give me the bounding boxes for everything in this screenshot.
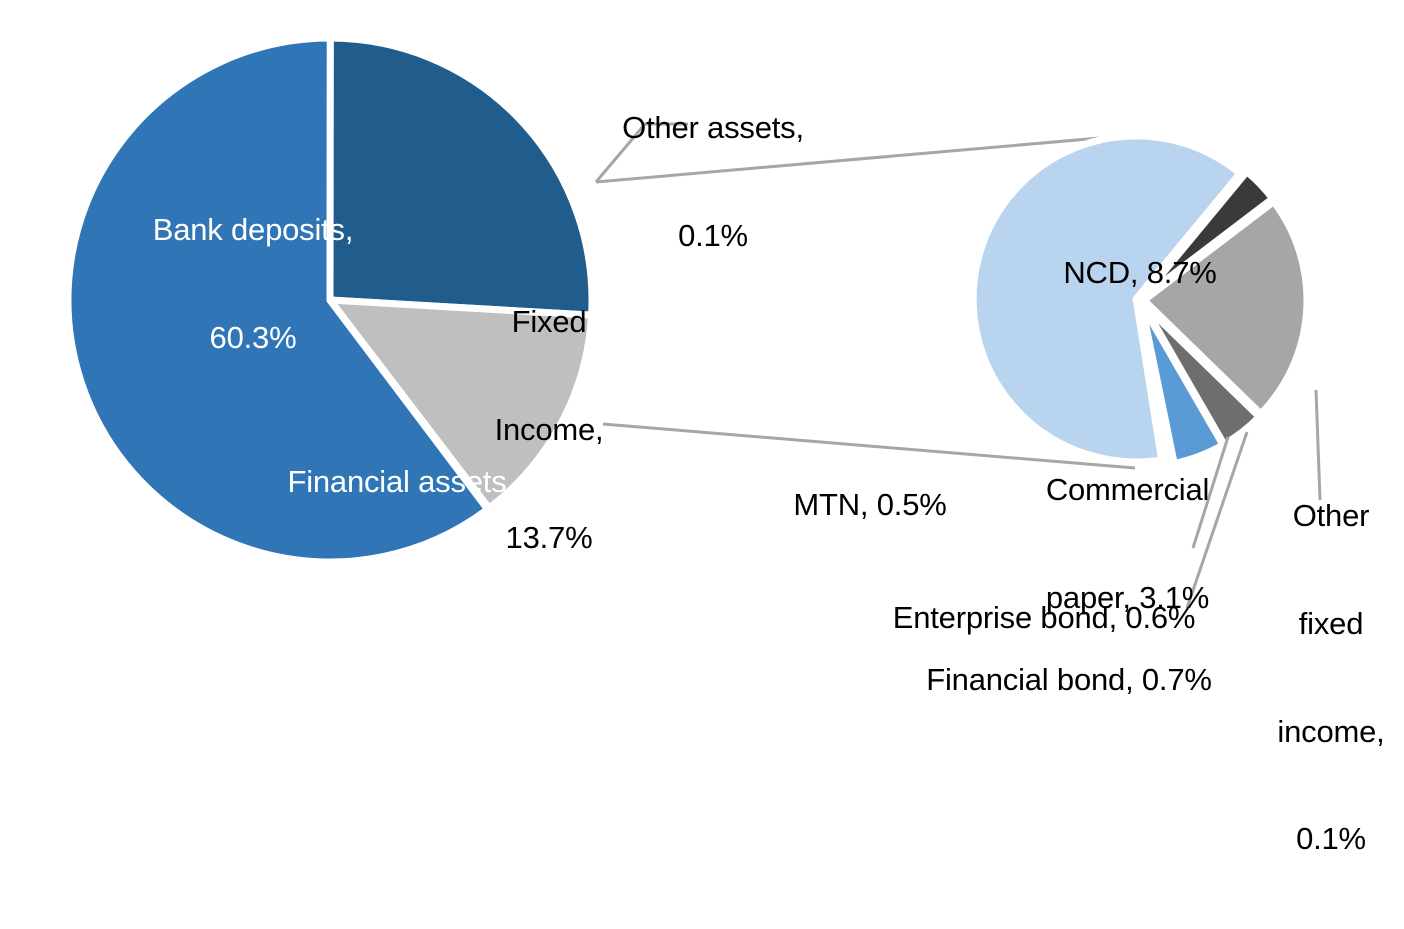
label-ncd-text: NCD, 8.7% xyxy=(1040,255,1240,291)
pie-of-pie-chart: Bank deposits, 60.3% Financial assets he… xyxy=(0,0,1404,644)
label-financial-bond-text: Financial bond, 0.7% xyxy=(900,662,1238,698)
label-repo-line3: agreements, xyxy=(252,680,542,716)
label-mtn-text: MTN, 0.5% xyxy=(770,487,970,523)
label-bank-deposits-line1: Bank deposits, xyxy=(108,212,398,248)
label-fixed-income-line3: 13.7% xyxy=(460,520,638,556)
label-other-assets: Other assets, 0.1% xyxy=(588,38,838,326)
label-other-assets-line1: Other assets, xyxy=(588,110,838,146)
label-other-fixed-line2: fixed xyxy=(1262,606,1400,642)
label-other-fixed-income: Other fixed income, 0.1% xyxy=(1262,426,1400,929)
label-other-assets-line2: 0.1% xyxy=(588,218,838,254)
label-other-fixed-line1: Other xyxy=(1262,498,1400,534)
label-commercial-paper-line1: Commercial xyxy=(1020,472,1235,508)
label-fixed-income-line2: Income, xyxy=(460,412,638,448)
label-repo-line4: 25.9% xyxy=(252,787,542,823)
label-bank-deposits: Bank deposits, 60.3% xyxy=(108,140,398,428)
label-ncd: NCD, 8.7% xyxy=(1040,183,1240,363)
label-other-fixed-line4: 0.1% xyxy=(1262,821,1400,857)
label-financial-bond: Financial bond, 0.7% xyxy=(900,590,1238,770)
label-bank-deposits-line2: 60.3% xyxy=(108,320,398,356)
label-other-fixed-line3: income, xyxy=(1262,714,1400,750)
